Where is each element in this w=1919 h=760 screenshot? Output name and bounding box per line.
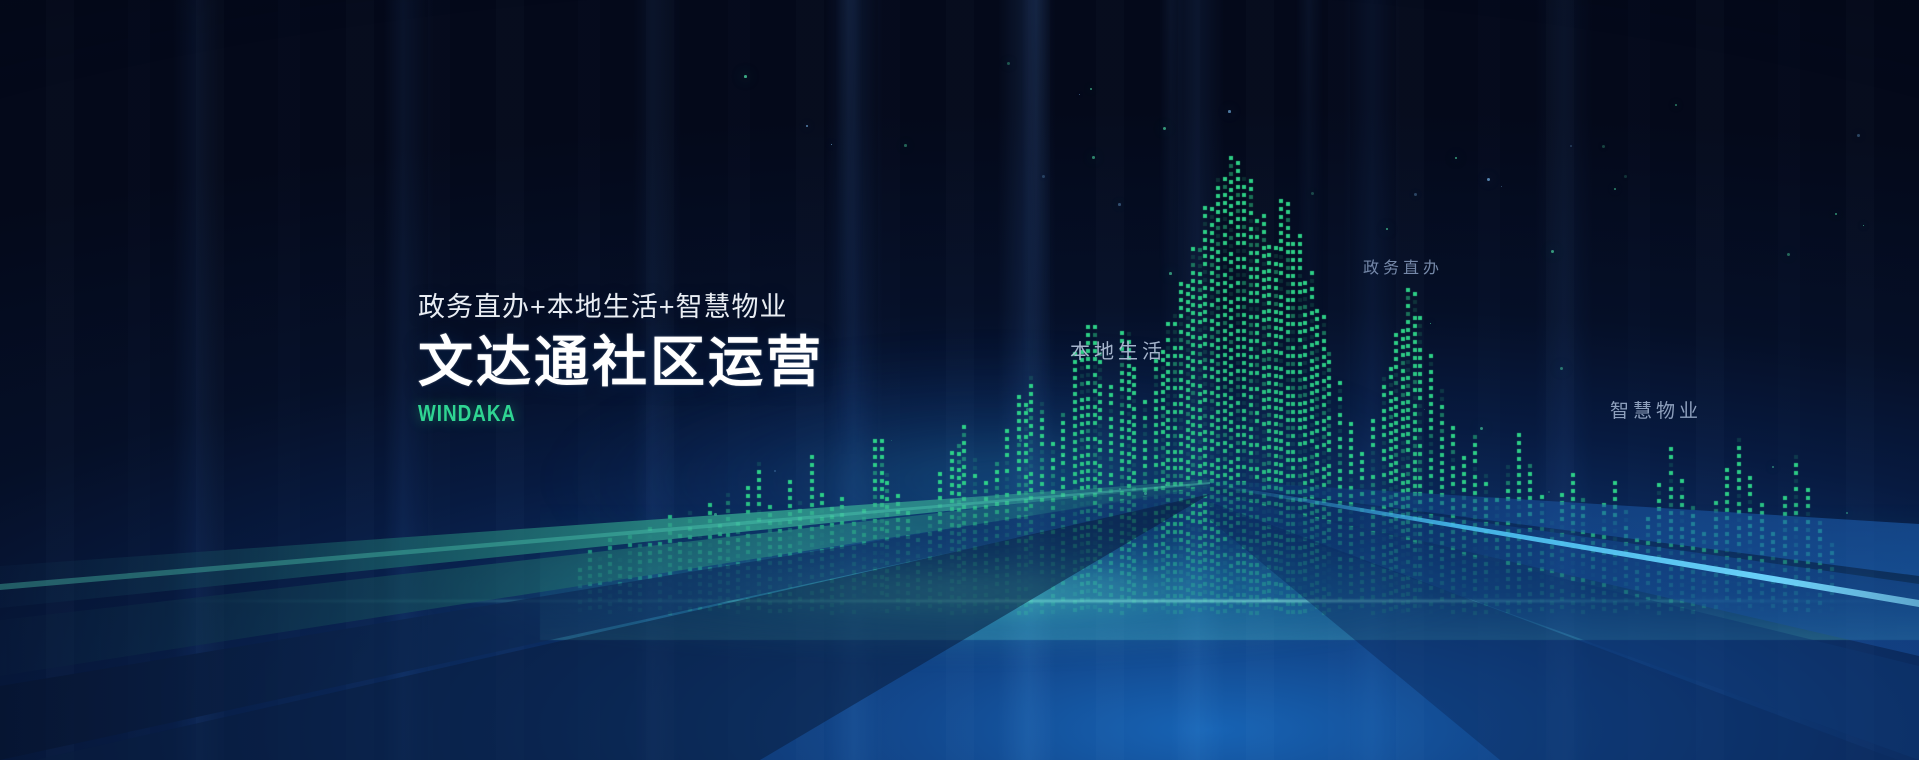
particle-dot xyxy=(1118,203,1121,206)
particle-dot xyxy=(1228,110,1231,113)
particle-dot xyxy=(1787,253,1790,256)
particle-dot xyxy=(1092,156,1095,159)
particle-dot xyxy=(1455,157,1457,159)
particle-dot xyxy=(904,144,907,147)
particle-dot xyxy=(774,470,776,472)
particle-dot xyxy=(1480,427,1483,430)
particle-dot xyxy=(1675,104,1677,106)
hero-banner: 政务直办 本地生活 智慧物业 政务直办+本地生活+智慧物业 文达通社区运营 WI… xyxy=(0,0,1919,760)
particle-dot xyxy=(1019,439,1022,442)
particle-dot xyxy=(1560,367,1563,370)
skyline-tag-government: 政务直办 xyxy=(1363,254,1443,278)
particle-dot xyxy=(1079,94,1080,95)
particle-dot xyxy=(744,75,747,78)
particle-dot xyxy=(1570,145,1572,147)
particle-dot xyxy=(1501,186,1502,187)
particle-dot xyxy=(1857,134,1860,137)
particle-dot xyxy=(1169,272,1172,275)
brand-wordmark: WINDAKA xyxy=(418,402,751,425)
particle-dot xyxy=(806,125,808,127)
particle-dot xyxy=(1163,127,1166,130)
hero-subtitle: 政务直办+本地生活+智慧物业 xyxy=(418,292,824,323)
particle-dot xyxy=(1430,323,1431,324)
particle-dot xyxy=(1863,225,1864,226)
particle-dot xyxy=(1424,409,1425,410)
particle-dot xyxy=(831,144,832,145)
particle-dot xyxy=(1311,192,1314,195)
particle-dot xyxy=(1487,178,1490,181)
perspective-floor xyxy=(0,480,1919,760)
particle-dot xyxy=(1062,455,1064,457)
particle-dot xyxy=(891,440,892,441)
particle-dot xyxy=(1090,88,1092,90)
particle-dot xyxy=(1386,228,1388,230)
particle-dot xyxy=(1026,408,1029,411)
particle-dot xyxy=(1414,193,1417,196)
particle-dot xyxy=(1614,188,1616,190)
particle-dot xyxy=(1624,175,1627,178)
particle-dot xyxy=(1835,213,1837,215)
skyline-tag-local-life: 本地生活 xyxy=(1070,335,1166,364)
skyline-tag-smart-property: 智慧物业 xyxy=(1610,396,1702,423)
particle-dot xyxy=(1551,250,1554,253)
hero-headline: 文达通社区运营 xyxy=(418,334,824,392)
hero-text-block: 政务直办+本地生活+智慧物业 文达通社区运营 WINDAKA xyxy=(418,292,824,425)
floor-bands-svg xyxy=(0,480,1919,760)
particle-dot xyxy=(1772,466,1774,468)
particle-dot xyxy=(1007,62,1010,65)
particle-dot xyxy=(1042,175,1045,178)
particle-dot xyxy=(1602,145,1605,148)
